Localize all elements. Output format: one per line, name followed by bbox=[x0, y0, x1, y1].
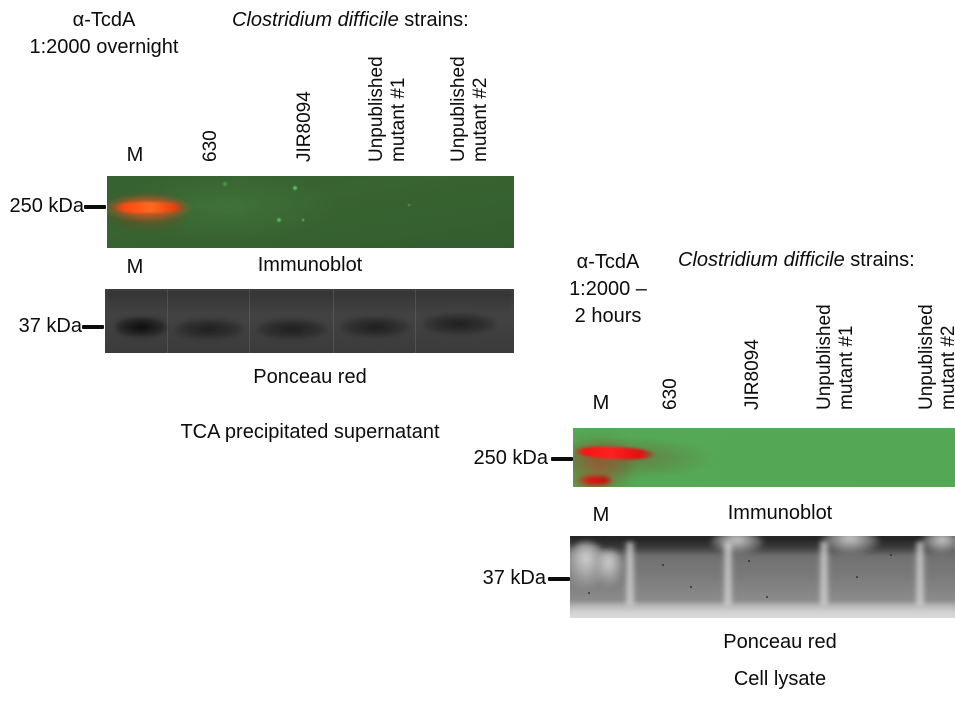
panel-a-marker-37: 37 kDa bbox=[0, 314, 82, 339]
panel-a-ponceau-lane-label-m: M bbox=[112, 255, 158, 280]
panel-b-strains-heading: Clostridium difficile strains: bbox=[678, 248, 955, 273]
panel-b-sample-caption: Cell lysate bbox=[660, 667, 900, 692]
panel-a-lane-label-m: M bbox=[112, 143, 158, 168]
panel-b-ponceau-speck bbox=[748, 560, 750, 562]
panel-a-lane-label-mutant-2: Unpublished mutant #2 bbox=[448, 52, 492, 162]
panel-a-ponceau-band bbox=[423, 314, 495, 334]
panel-b-ponceau-speck bbox=[588, 592, 590, 594]
panel-a-ponceau-caption: Ponceau red bbox=[190, 365, 430, 390]
panel-a-ponceau-lane-divider bbox=[167, 289, 168, 353]
panel-a-sample-caption: TCA precipitated supernatant bbox=[140, 420, 480, 445]
panel-b-marker-37-tick bbox=[548, 577, 570, 581]
panel-b-immunoblot-image bbox=[573, 428, 955, 487]
panel-a-ponceau-band bbox=[115, 317, 167, 337]
figure-canvas: α-TcdA 1:2000 overnight Clostridium diff… bbox=[0, 0, 955, 711]
panel-b-ponceau-lane-gap bbox=[818, 542, 830, 606]
panel-b-marker-250: 250 kDa bbox=[464, 446, 548, 471]
panel-b-ponceau-image bbox=[570, 536, 955, 618]
panel-b-immunoblot-caption: Immunoblot bbox=[660, 501, 900, 526]
panel-a-ponceau-lane-divider bbox=[415, 289, 416, 353]
panel-b-marker-band-secondary bbox=[574, 476, 614, 485]
panel-b-antibody-label: α-TcdA bbox=[548, 250, 668, 275]
panel-b-ponceau-well bbox=[594, 550, 624, 586]
panel-a-marker-250-tick bbox=[84, 205, 106, 209]
panel-a-ponceau-band bbox=[257, 319, 327, 339]
panel-a-antibody-condition: 1:2000 overnight bbox=[4, 35, 204, 60]
panel-b-strains-heading-species: Clostridium difficile bbox=[678, 249, 845, 271]
panel-a-marker-band bbox=[113, 202, 183, 213]
panel-b-marker-37: 37 kDa bbox=[464, 566, 546, 591]
panel-a-ponceau-band bbox=[175, 319, 243, 339]
panel-b-lane-label-jir8094: JIR8094 bbox=[742, 310, 764, 410]
panel-b-antibody-condition-line1: 1:2000 – bbox=[548, 277, 668, 302]
panel-b-lane-label-630: 630 bbox=[660, 348, 682, 410]
panel-a-marker-37-tick bbox=[82, 325, 104, 329]
panel-a-marker-250: 250 kDa bbox=[0, 194, 84, 219]
panel-b-lane-label-m: M bbox=[578, 391, 624, 416]
panel-a-immunoblot-caption: Immunoblot bbox=[190, 253, 430, 278]
panel-a-lane-label-630: 630 bbox=[200, 100, 222, 162]
panel-b-ponceau-speck bbox=[856, 576, 858, 578]
panel-a-immunoblot-image bbox=[107, 176, 514, 248]
panel-a-lane-label-jir8094: JIR8094 bbox=[294, 62, 316, 162]
panel-b-lane-label-mutant-2: Unpublished mutant #2 bbox=[916, 292, 955, 410]
panel-b-strains-heading-suffix: strains: bbox=[845, 249, 915, 271]
panel-b-ponceau-lane-gap bbox=[624, 542, 636, 606]
panel-a-ponceau-lane-divider bbox=[333, 289, 334, 353]
panel-b-marker-250-tick bbox=[551, 457, 573, 461]
panel-b-ponceau-lane-label-m: M bbox=[578, 503, 624, 528]
panel-a-ponceau-image bbox=[105, 289, 514, 353]
panel-b-ponceau-speck bbox=[690, 586, 692, 588]
panel-b-ponceau-speck bbox=[890, 554, 892, 556]
panel-a-ponceau-band bbox=[341, 317, 409, 337]
panel-a-antibody-label: α-TcdA bbox=[14, 8, 194, 33]
panel-b-ponceau-lane-gap bbox=[722, 542, 734, 606]
panel-b-lane-label-mutant-1: Unpublished mutant #1 bbox=[814, 292, 858, 410]
panel-a-ponceau-lane-divider bbox=[249, 289, 250, 353]
panel-b-ponceau-speck bbox=[662, 564, 664, 566]
panel-a-strains-heading-species: Clostridium difficile bbox=[232, 9, 399, 31]
panel-b-ponceau-caption: Ponceau red bbox=[660, 630, 900, 655]
panel-b-ponceau-speck bbox=[766, 596, 768, 598]
panel-a-strains-heading-suffix: strains: bbox=[399, 9, 469, 31]
panel-b-antibody-condition-line2: 2 hours bbox=[548, 304, 668, 329]
panel-b-ponceau-bottom-edge bbox=[570, 602, 955, 618]
panel-b-ponceau-lane-gap bbox=[914, 542, 926, 606]
panel-a-lane-label-mutant-1: Unpublished mutant #1 bbox=[366, 52, 410, 162]
panel-a-strains-heading: Clostridium difficile strains: bbox=[232, 8, 572, 33]
